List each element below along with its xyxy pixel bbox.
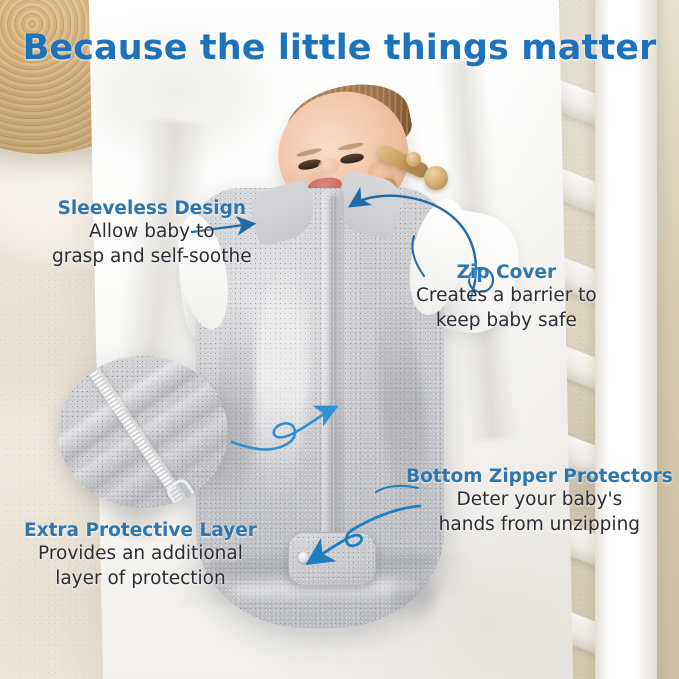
callout-bottom-zipper-protectors: Bottom Zipper Protectors Deter your baby… [406, 466, 673, 536]
callout-heading: Zip Cover [416, 262, 597, 283]
callout-heading: Bottom Zipper Protectors [406, 466, 673, 487]
callout-body-line-1: Allow baby to [52, 221, 252, 244]
zipper-detail-inset [58, 356, 228, 508]
callout-body-line-1: Deter your baby's [406, 489, 673, 512]
callout-heading: Extra Protective Layer [24, 520, 257, 541]
page-headline: Because the little things matter [0, 28, 679, 68]
zipper-line [330, 196, 337, 556]
callout-heading: Sleeveless Design [52, 198, 252, 219]
callout-body-line-1: Provides an additional [24, 543, 257, 566]
callout-body-line-2: layer of protection [24, 568, 257, 591]
callout-body-line-2: grasp and self-soothe [52, 246, 252, 269]
callout-body-line-2: keep baby safe [416, 310, 597, 333]
callout-sleeveless-design: Sleeveless Design Allow baby to grasp an… [52, 198, 252, 268]
callout-zip-cover: Zip Cover Creates a barrier to keep baby… [416, 262, 597, 332]
zipper-protector-snap [298, 552, 309, 563]
product-feature-graphic: Because the little things matter Sleevel… [0, 0, 679, 679]
callout-body-line-1: Creates a barrier to [416, 285, 597, 308]
callout-body-line-2: hands from unzipping [406, 514, 673, 537]
callout-extra-protective-layer: Extra Protective Layer Provides an addit… [24, 520, 257, 590]
